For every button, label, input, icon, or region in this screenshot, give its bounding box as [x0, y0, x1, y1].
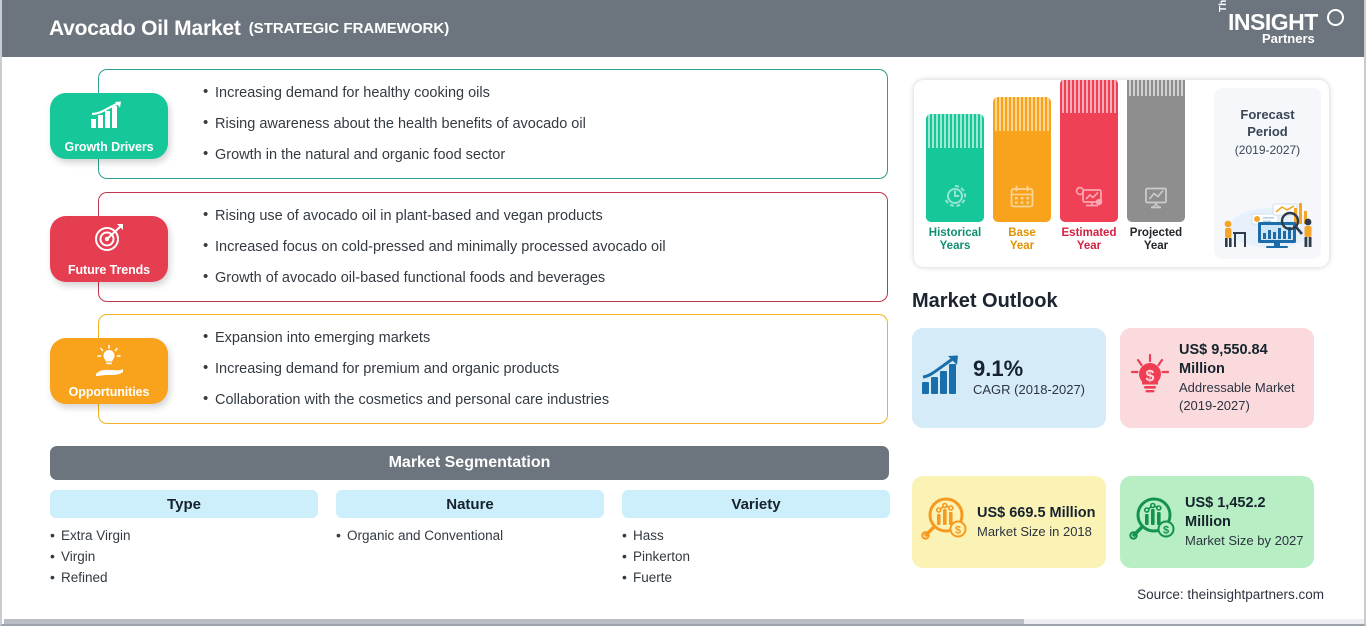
- badge-label: Future Trends: [68, 263, 150, 277]
- timeline-item-estimated: 2019: [1060, 80, 1118, 253]
- bar-chart-arrow-icon: [89, 100, 129, 135]
- timeline-chart: 2016-2017: [914, 80, 1329, 267]
- badge-future-trends[interactable]: Future Trends: [50, 216, 168, 282]
- magnifier-chart-icon: $: [920, 496, 970, 549]
- timeline-caption: Base Year: [993, 227, 1051, 253]
- scrollbar-thumb[interactable]: [4, 619, 1024, 624]
- list-item: Growth of avocado oil-based functional f…: [203, 269, 887, 287]
- list-item: Rising awareness about the health benefi…: [203, 115, 887, 133]
- clock-history-icon: [942, 183, 968, 214]
- list-item: Organic and Conventional: [336, 528, 604, 543]
- outlook-value: US$ 669.5 Million: [977, 504, 1096, 523]
- list-item: Rising use of avocado oil in plant-based…: [203, 207, 887, 225]
- forecast-period-box: Forecast Period (2019-2027): [1214, 88, 1321, 259]
- badge-growth-drivers[interactable]: Growth Drivers: [50, 93, 168, 159]
- bulb-dollar-icon: $: [1128, 353, 1172, 404]
- presentation-chart-icon: [1142, 185, 1170, 214]
- timeline-item-projected: 2027: [1127, 80, 1185, 253]
- list-item: Collaboration with the cosmetics and per…: [203, 391, 887, 409]
- svg-text:$: $: [1146, 368, 1155, 385]
- list-item: Increasing demand for premium and organi…: [203, 360, 887, 378]
- list-item: Increasing demand for healthy cooking oi…: [203, 84, 887, 102]
- logo-ring-icon: [1327, 9, 1344, 26]
- section-box-growth-drivers: Increasing demand for healthy cooking oi…: [98, 69, 888, 179]
- segmentation-header: Nature: [336, 490, 604, 518]
- outlook-value: US$ 9,550.84 Million: [1179, 341, 1304, 379]
- outlook-label: Market Size by 2027: [1185, 532, 1304, 550]
- section-box-opportunities: Expansion into emerging markets Increasi…: [98, 314, 888, 424]
- outlook-card-market-size-2027: $ US$ 1,452.2 Million Market Size by 202…: [1120, 476, 1314, 568]
- left-panel: Increasing demand for healthy cooking oi…: [2, 57, 902, 626]
- right-panel: 2016-2017: [902, 57, 1366, 626]
- list-item: Increased focus on cold-pressed and mini…: [203, 238, 887, 256]
- segmentation-column-nature: Nature Organic and Conventional: [336, 490, 604, 549]
- stripe-pattern: [926, 114, 984, 148]
- outlook-label: Addressable Market (2019-2027): [1179, 379, 1304, 415]
- svg-text:$: $: [955, 524, 961, 536]
- stripe-pattern: [993, 97, 1051, 131]
- segmentation-header: Variety: [622, 490, 890, 518]
- list-item: Pinkerton: [622, 549, 890, 564]
- outlook-card-cagr: 9.1% CAGR (2018-2027): [912, 328, 1106, 428]
- source-attribution: Source: theinsightpartners.com: [1137, 587, 1324, 602]
- bullet-list-future-trends: Rising use of avocado oil in plant-based…: [99, 193, 887, 301]
- bar-solid: [993, 131, 1051, 222]
- segmentation-title: Market Segmentation: [50, 446, 889, 480]
- page-title: Avocado Oil Market: [49, 17, 241, 41]
- segmentation-column-variety: Variety Hass Pinkerton Fuerte: [622, 490, 890, 591]
- outlook-card-addressable-market: $ US$ 9,550.84 Million Addressable Marke…: [1120, 328, 1314, 428]
- outlook-label: Market Size in 2018: [977, 523, 1096, 541]
- section-box-future-trends: Rising use of avocado oil in plant-based…: [98, 192, 888, 302]
- analytics-gear-icon: [1074, 185, 1104, 214]
- list-item: Hass: [622, 528, 890, 543]
- forecast-label-line2: Period: [1214, 123, 1321, 140]
- page-subtitle: (STRATEGIC FRAMEWORK): [249, 20, 450, 37]
- magnifier-chart-icon: $: [1128, 496, 1178, 549]
- growth-chart-icon: [920, 355, 966, 402]
- market-outlook-title: Market Outlook: [912, 290, 1058, 313]
- infographic-page: Avocado Oil Market (STRATEGIC FRAMEWORK)…: [0, 0, 1366, 626]
- svg-text:$: $: [1163, 524, 1169, 536]
- segmentation-list: Hass Pinkerton Fuerte: [622, 528, 890, 585]
- stripe-pattern: [1060, 80, 1118, 113]
- badge-label: Growth Drivers: [65, 140, 154, 154]
- insight-partners-logo: The INSIGHT Partners: [1216, 8, 1346, 50]
- timeline-item-historical: 2016-2017: [926, 114, 984, 253]
- hand-lightbulb-icon: [89, 345, 129, 382]
- timeline-bar: [1127, 80, 1185, 222]
- timeline-caption: Estimated Year: [1060, 227, 1118, 253]
- bar-solid: [1127, 96, 1185, 222]
- logo-partners-text: Partners: [1262, 31, 1315, 46]
- calendar-icon: [1009, 185, 1035, 214]
- bullet-list-opportunities: Expansion into emerging markets Increasi…: [99, 315, 887, 423]
- badge-opportunities[interactable]: Opportunities: [50, 338, 168, 404]
- badge-label: Opportunities: [69, 385, 150, 399]
- segmentation-header: Type: [50, 490, 318, 518]
- team-analytics-illustration: [1216, 188, 1319, 255]
- outlook-card-text: US$ 9,550.84 Million Addressable Market …: [1179, 341, 1304, 415]
- list-item: Fuerte: [622, 570, 890, 585]
- timeline-item-base: 2018: [993, 97, 1051, 253]
- segmentation-list: Organic and Conventional: [336, 528, 604, 543]
- timeline-bar: [926, 114, 984, 222]
- stripe-pattern: [1127, 80, 1185, 96]
- bar-solid: [1060, 113, 1118, 222]
- outlook-card-text: US$ 1,452.2 Million Market Size by 2027: [1185, 494, 1304, 550]
- list-item: Refined: [50, 570, 318, 585]
- outlook-label: CAGR (2018-2027): [973, 381, 1096, 399]
- list-item: Expansion into emerging markets: [203, 329, 887, 347]
- forecast-label-line1: Forecast: [1214, 106, 1321, 123]
- outlook-card-market-size-2018: $ US$ 669.5 Million Market Size in 2018: [912, 476, 1106, 568]
- timeline-caption: Projected Year: [1127, 227, 1185, 253]
- list-item: Extra Virgin: [50, 528, 318, 543]
- timeline-caption: Historical Years: [926, 227, 984, 253]
- target-dart-icon: [91, 223, 127, 258]
- segmentation-list: Extra Virgin Virgin Refined: [50, 528, 318, 585]
- outlook-card-text: US$ 669.5 Million Market Size in 2018: [977, 504, 1096, 541]
- timeline-bar: [1060, 80, 1118, 222]
- bar-solid: [926, 148, 984, 222]
- page-header: Avocado Oil Market (STRATEGIC FRAMEWORK)…: [2, 0, 1364, 57]
- outlook-card-text: 9.1% CAGR (2018-2027): [973, 357, 1096, 399]
- forecast-years: (2019-2027): [1214, 143, 1321, 157]
- list-item: Growth in the natural and organic food s…: [203, 146, 887, 164]
- bullet-list-growth-drivers: Increasing demand for healthy cooking oi…: [99, 70, 887, 178]
- segmentation-column-type: Type Extra Virgin Virgin Refined: [50, 490, 318, 591]
- outlook-value: US$ 1,452.2 Million: [1185, 494, 1304, 532]
- timeline-bars: 2016-2017: [926, 80, 1186, 267]
- timeline-bar: [993, 97, 1051, 222]
- list-item: Virgin: [50, 549, 318, 564]
- horizontal-scrollbar[interactable]: [4, 619, 1364, 624]
- outlook-value: 9.1%: [973, 357, 1096, 381]
